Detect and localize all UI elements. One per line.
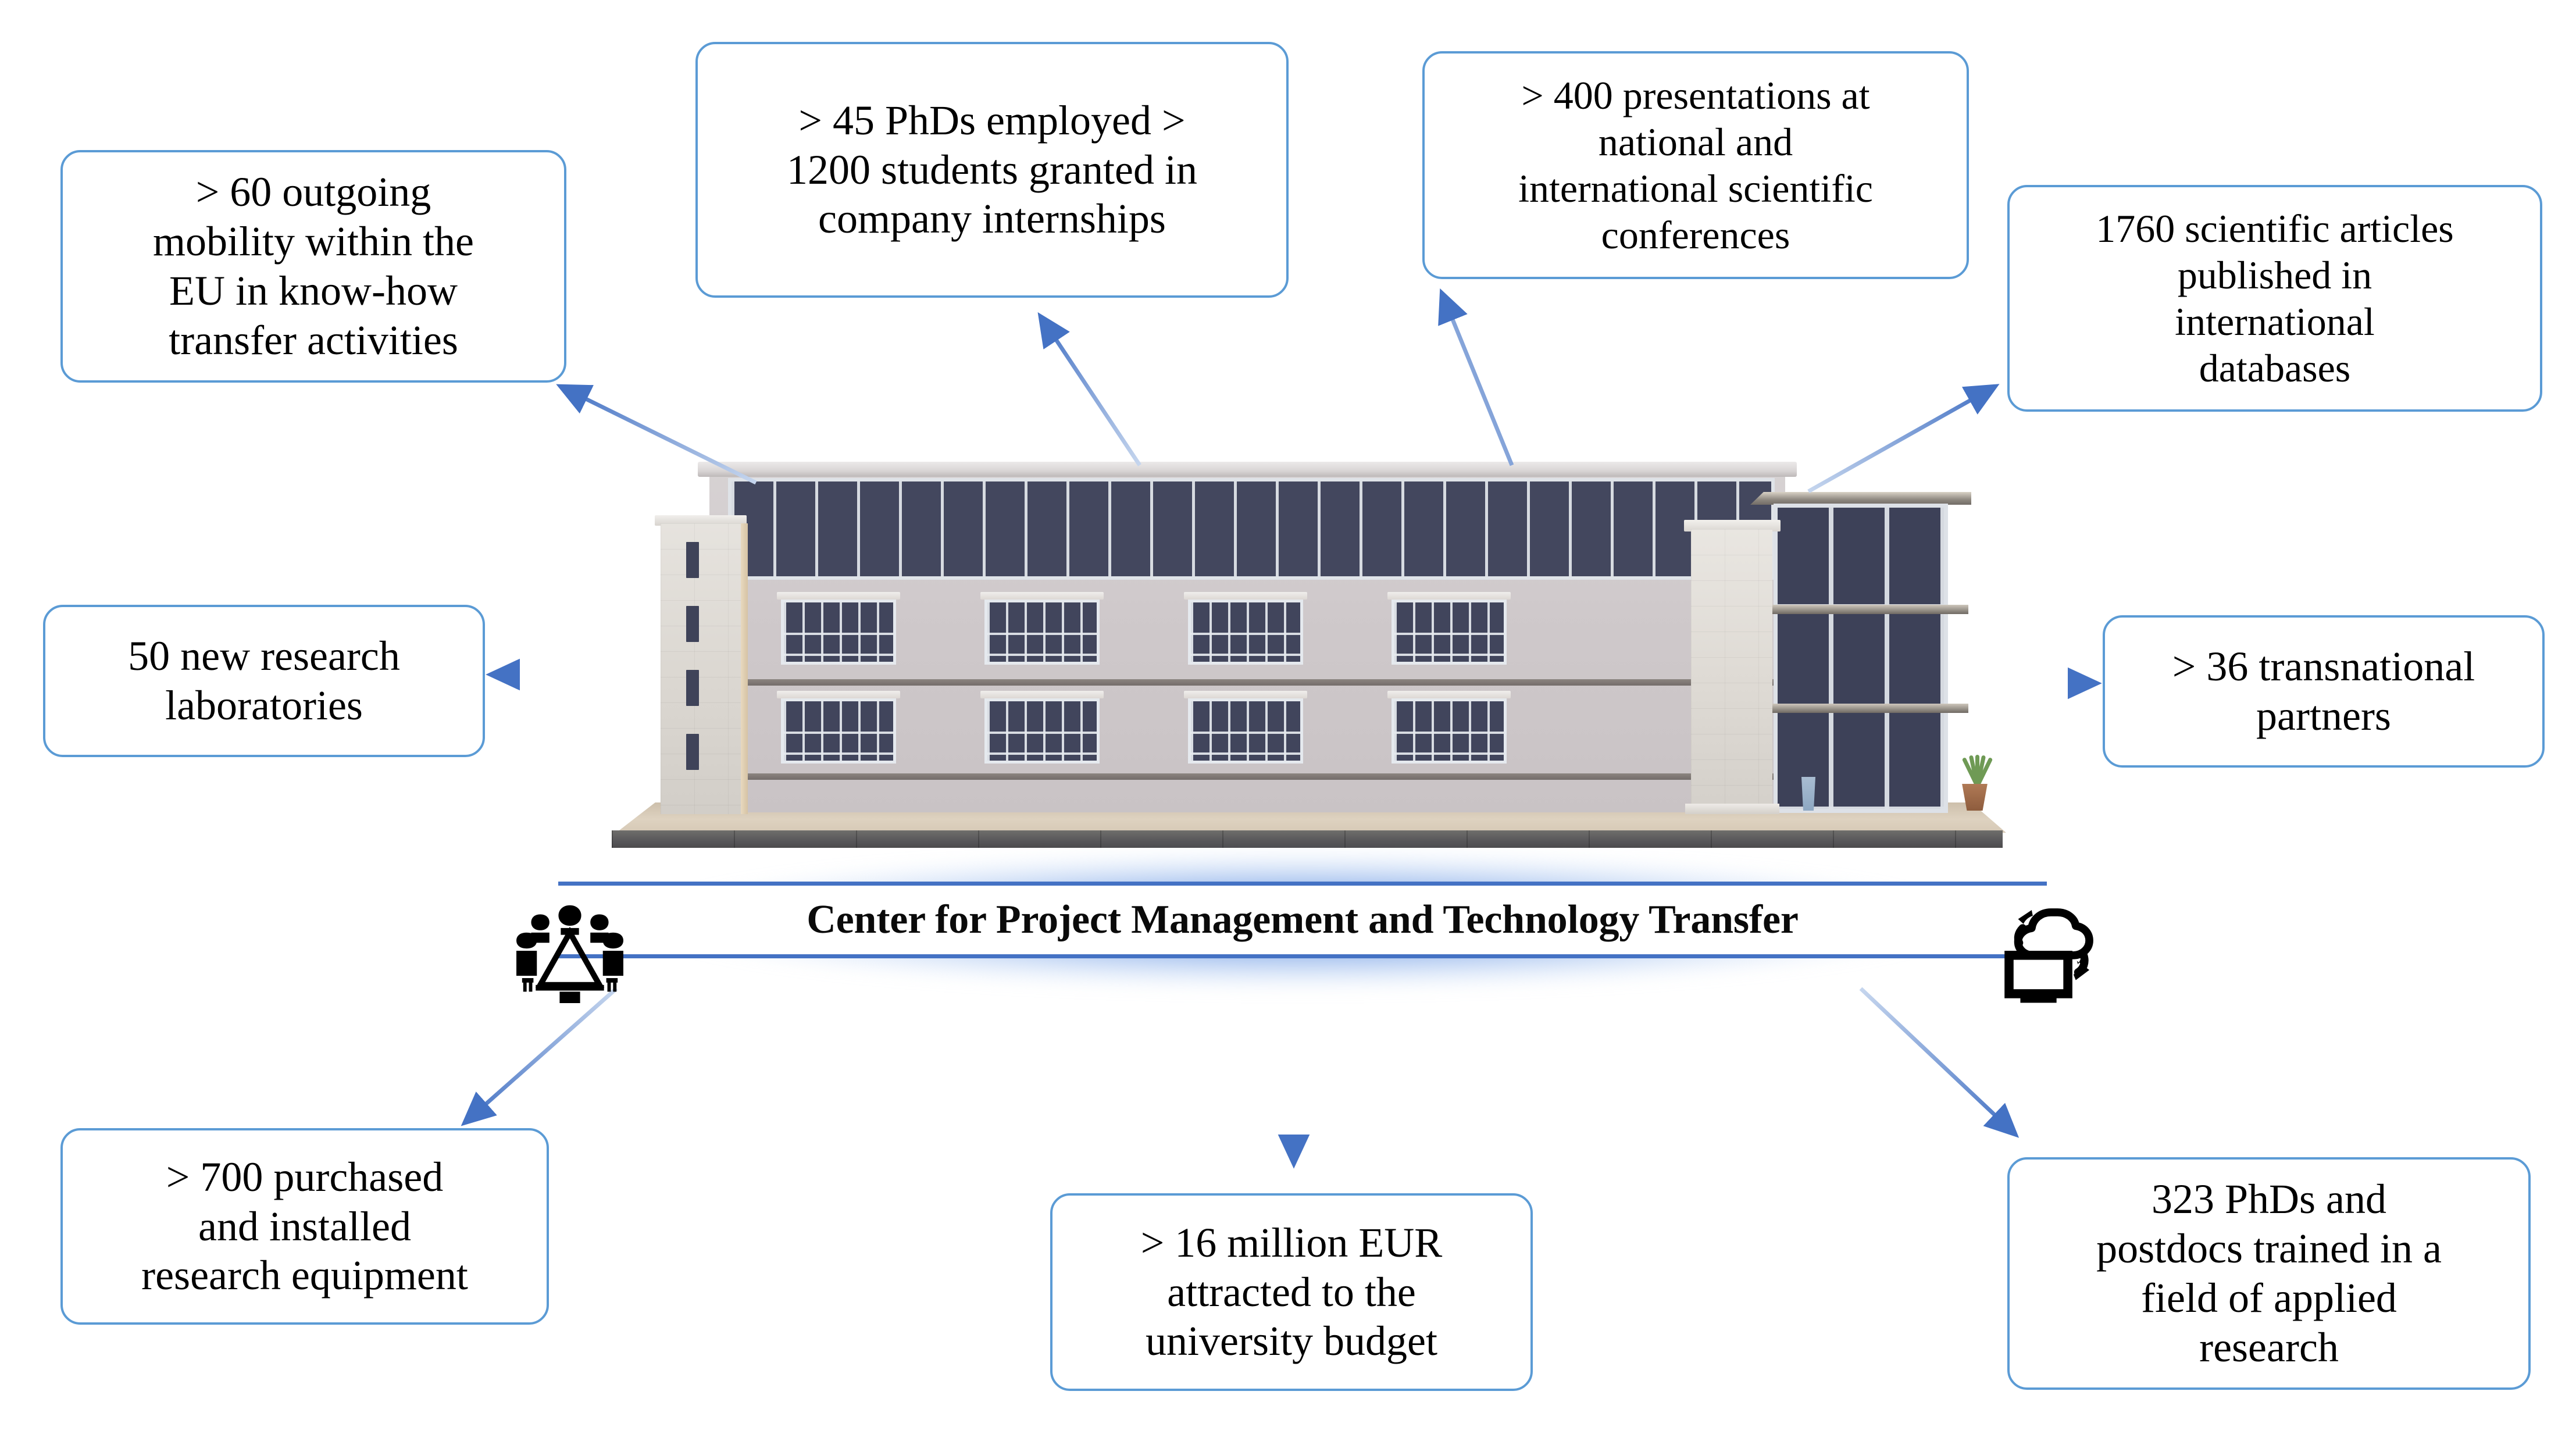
callout-phds-postdocs-trained[interactable]: 323 PhDs and postdocs trained in a field… (2007, 1157, 2531, 1390)
right-tower-base (1685, 804, 1779, 814)
arrow-to-presentations (1442, 294, 1512, 465)
facade-window (984, 698, 1100, 764)
window-lintel (777, 592, 900, 600)
facade-window (781, 600, 896, 665)
window-lintel (980, 691, 1104, 698)
window-lintel (980, 592, 1104, 600)
window-lintel (1387, 691, 1511, 698)
center-title-text: Center for Project Management and Techno… (807, 897, 1799, 943)
floor-band-upper (709, 679, 1785, 686)
window-lintel (1387, 592, 1511, 600)
window-lintel (1184, 592, 1307, 600)
right-wing-ledge (1753, 704, 1968, 713)
callout-scientific-articles[interactable]: 1760 scientific articles published in in… (2007, 185, 2542, 412)
plant-leaves (1962, 751, 1989, 786)
callout-text: > 60 outgoing mobility within the EU in … (73, 167, 554, 365)
callout-text: 50 new research laboratories (56, 632, 472, 730)
callout-text: > 36 transnational partners (2115, 642, 2532, 741)
research-center-building-illustration (605, 448, 2012, 849)
cloud-sync-monitor-icon (1989, 898, 2111, 1003)
arrow-to-research-equipment (465, 989, 616, 1122)
facade-window (1188, 600, 1303, 665)
floor-band-lower (709, 773, 1785, 780)
facade-window (984, 600, 1100, 665)
tower-slit-window (686, 670, 699, 706)
arrow-to-phds-employed (1041, 317, 1140, 465)
callout-eur-attracted[interactable]: > 16 million EUR attracted to the univer… (1050, 1193, 1533, 1391)
callout-transnational-partners[interactable]: > 36 transnational partners (2103, 615, 2545, 768)
facade-window (1392, 600, 1507, 665)
left-tower-edge (741, 523, 748, 814)
right-stone-tower (1691, 529, 1772, 813)
tower-slit-window (686, 542, 699, 578)
callout-text: 1760 scientific articles published in in… (2020, 205, 2529, 392)
callout-text: 323 PhDs and postdocs trained in a field… (2020, 1175, 2518, 1372)
callout-text: > 400 presentations at national and inte… (1435, 72, 1956, 259)
tower-slit-window (686, 606, 699, 642)
window-lintel (777, 691, 900, 698)
callout-text: > 16 million EUR attracted to the univer… (1063, 1218, 1520, 1367)
infographic-canvas: Center for Project Management and Techno… (0, 0, 2576, 1434)
facade-window (1392, 698, 1507, 764)
window-lintel (1184, 691, 1307, 698)
callout-outgoing-mobility[interactable]: > 60 outgoing mobility within the EU in … (60, 150, 566, 383)
right-wing-roof (1750, 492, 1971, 505)
clerestory-mullions (732, 481, 1771, 576)
right-wing-mullions (1778, 508, 1944, 809)
center-title-banner: Center for Project Management and Techno… (558, 871, 2047, 970)
facade-window (1188, 698, 1303, 764)
meeting-table-icon (512, 898, 628, 1003)
callout-phds-employed[interactable]: > 45 PhDs employed > 1200 students grant… (695, 42, 1289, 298)
title-bar: Center for Project Management and Techno… (558, 882, 2047, 958)
callout-research-equipment[interactable]: > 700 purchased and installed research e… (60, 1128, 549, 1325)
callout-new-laboratories[interactable]: 50 new research laboratories (43, 605, 485, 757)
building-cornice (698, 462, 1797, 477)
callout-presentations[interactable]: > 400 presentations at national and inte… (1422, 51, 1969, 279)
left-stone-tower (661, 523, 741, 814)
callout-text: > 45 PhDs employed > 1200 students grant… (708, 96, 1276, 244)
tower-slit-window (686, 734, 699, 770)
arrow-to-phds-postdocs-trained (1861, 989, 2015, 1134)
right-wing-ledge (1753, 605, 1968, 614)
callout-text: > 700 purchased and installed research e… (73, 1153, 536, 1301)
facade-window (781, 698, 896, 764)
right-wing-glazing (1774, 504, 1948, 813)
clerestory-glazing-band (728, 478, 1775, 580)
